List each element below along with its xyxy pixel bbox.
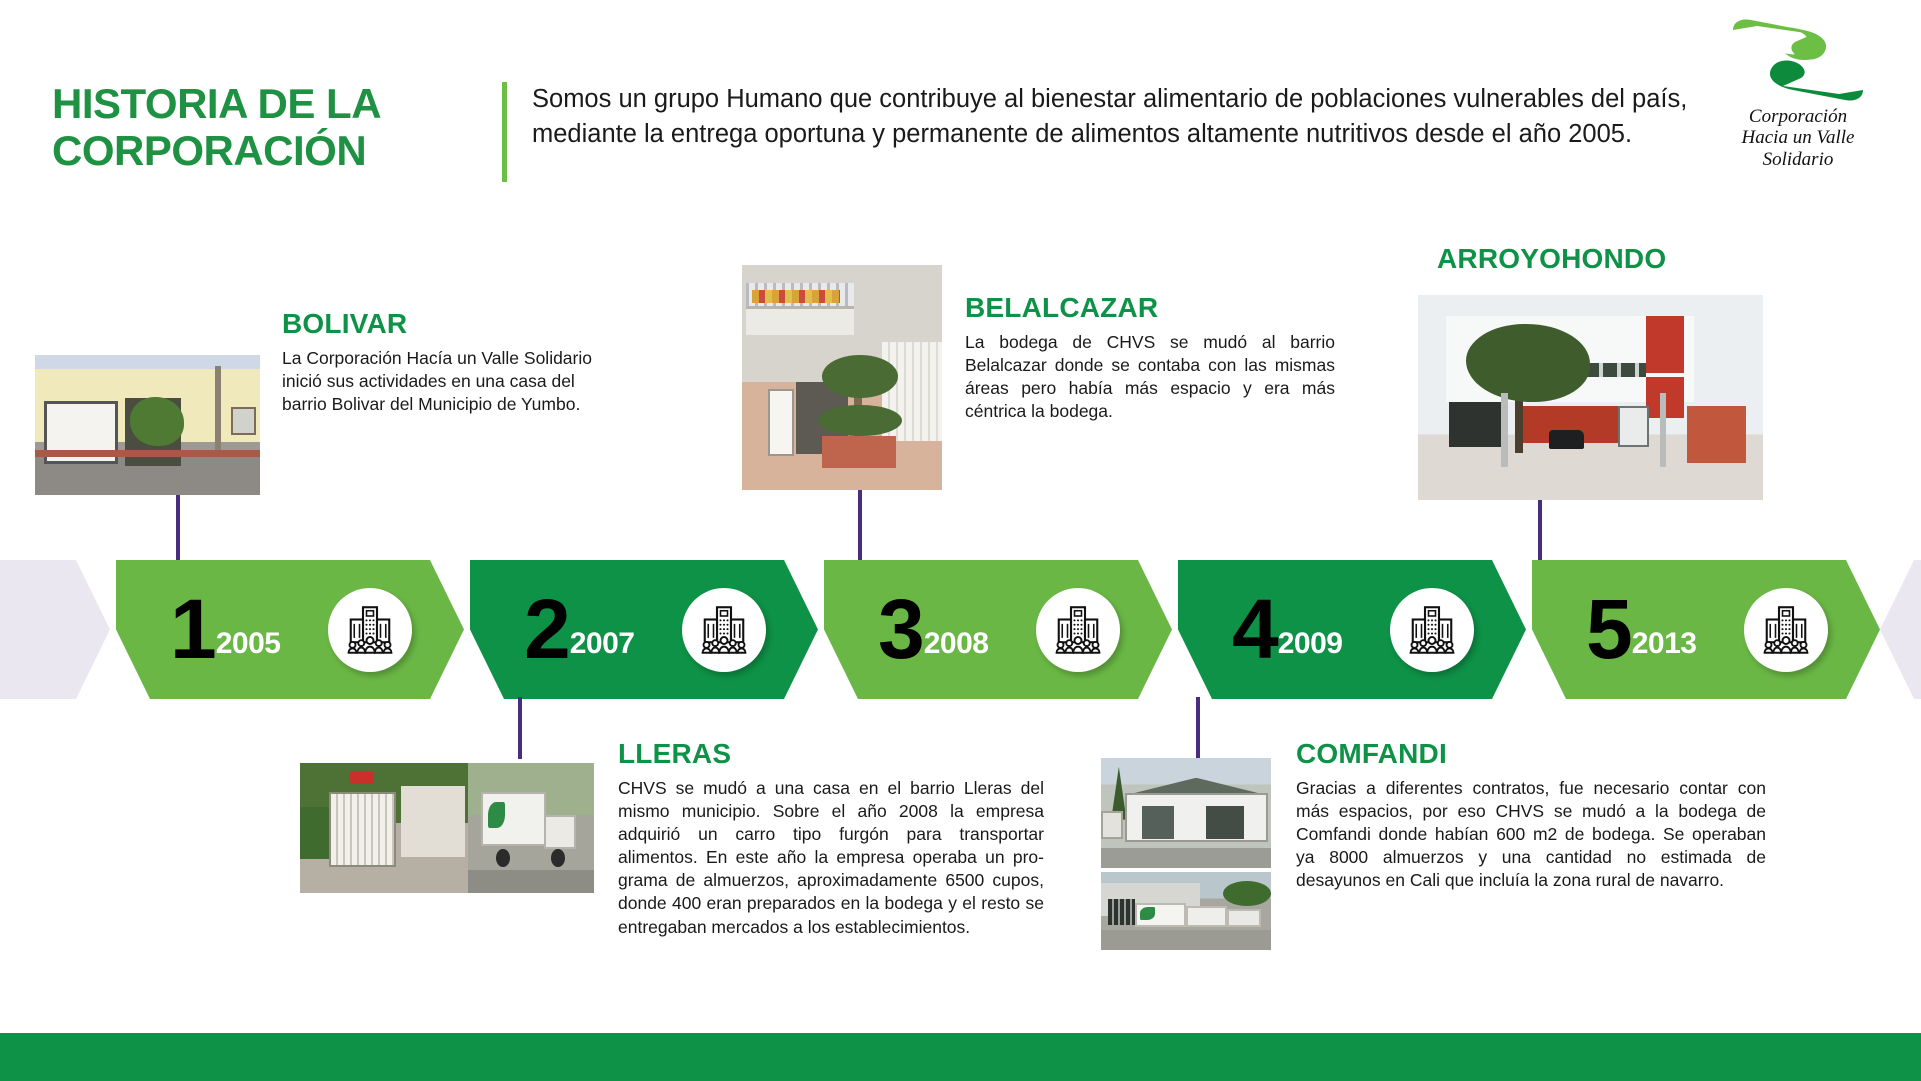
hands-s-logo-icon xyxy=(1727,14,1869,106)
milestone-card-bolivar: BOLIVAR La Corporación Hacía un Valle So… xyxy=(282,308,602,416)
timeline-bar: 1 2005 xyxy=(0,560,1921,699)
milestone-body-lleras: CHVS se mudó a una casa en el barrio Lle… xyxy=(618,777,1044,939)
connector-line-5 xyxy=(1538,500,1542,562)
timeline-year-1: 2005 xyxy=(216,627,281,661)
milestone-card-belalcazar: BELALCAZAR La bodega de CHVS se mudó al … xyxy=(965,292,1335,423)
title-divider xyxy=(502,82,507,182)
timeline-start-cap xyxy=(0,560,110,699)
milestone-card-lleras: LLERAS CHVS se mudó a una casa en el bar… xyxy=(618,738,1044,939)
milestone-title-comfandi: COMFANDI xyxy=(1296,738,1766,770)
page-title: HISTORIA DE LA CORPORACIÓN xyxy=(52,80,502,174)
milestone-title-arroyohondo: ARROYOHONDO xyxy=(1437,243,1817,275)
timeline-number-3: 3 xyxy=(878,595,922,664)
timeline-segment-2[interactable]: 2 2007 xyxy=(470,560,818,699)
timeline-number-2: 2 xyxy=(524,595,568,664)
lleras-house-photo xyxy=(300,763,468,893)
timeline-number-4: 4 xyxy=(1232,595,1276,664)
milestone-title-bolivar: BOLIVAR xyxy=(282,308,602,340)
logo-text: Corporación Hacia un Valle Solidario xyxy=(1713,106,1883,170)
comfandi-warehouse-photo xyxy=(1101,758,1271,868)
timeline-year-2: 2007 xyxy=(570,627,635,661)
timeline-segment-5[interactable]: 5 2013 xyxy=(1532,560,1880,699)
building-with-people-icon xyxy=(1744,588,1828,672)
connector-line-1 xyxy=(176,495,180,562)
connector-line-4 xyxy=(1196,697,1200,759)
mission-statement: Somos un grupo Humano que contribuye al … xyxy=(532,82,1692,152)
connector-line-3 xyxy=(858,490,862,562)
footer-bar xyxy=(0,1033,1921,1081)
logo-line-1: Corporación xyxy=(1713,106,1883,127)
milestone-body-bolivar: La Corporación Hacía un Valle Solidario … xyxy=(282,347,602,416)
milestone-card-arroyohondo: ARROYOHONDO xyxy=(1437,243,1817,282)
comfandi-trucks-photo xyxy=(1101,872,1271,950)
timeline-year-4: 2009 xyxy=(1278,627,1343,661)
timeline-number-5: 5 xyxy=(1586,595,1630,664)
building-with-people-icon xyxy=(682,588,766,672)
building-with-people-icon xyxy=(328,588,412,672)
bolivar-house-photo xyxy=(35,355,260,495)
timeline-segment-1[interactable]: 1 2005 xyxy=(116,560,464,699)
header: HISTORIA DE LA CORPORACIÓN Somos un grup… xyxy=(0,0,1921,200)
milestone-body-belalcazar: La bodega de CHVS se mudó al barrio Bela… xyxy=(965,331,1335,423)
milestone-title-belalcazar: BELALCAZAR xyxy=(965,292,1335,324)
logo-line-2: Hacia un Valle xyxy=(1713,127,1883,148)
timeline-year-5: 2013 xyxy=(1632,627,1697,661)
timeline-segment-3[interactable]: 3 2008 xyxy=(824,560,1172,699)
connector-line-2 xyxy=(518,697,522,759)
infographic-page: HISTORIA DE LA CORPORACIÓN Somos un grup… xyxy=(0,0,1921,1081)
arroyohondo-building-photo xyxy=(1418,295,1763,500)
milestone-title-lleras: LLERAS xyxy=(618,738,1044,770)
belalcazar-house-photo xyxy=(742,265,942,490)
lleras-truck-photo xyxy=(468,763,594,893)
logo: Corporación Hacia un Valle Solidario xyxy=(1713,14,1883,179)
timeline-year-3: 2008 xyxy=(924,627,989,661)
building-with-people-icon xyxy=(1036,588,1120,672)
timeline-end-cap xyxy=(1880,560,1921,699)
timeline-number-1: 1 xyxy=(170,595,214,664)
milestone-card-comfandi: COMFANDI Gracias a diferentes contratos,… xyxy=(1296,738,1766,892)
building-with-people-icon xyxy=(1390,588,1474,672)
timeline-segment-4[interactable]: 4 2009 xyxy=(1178,560,1526,699)
milestone-body-comfandi: Gracias a diferentes contratos, fue nece… xyxy=(1296,777,1766,892)
logo-line-3: Solidario xyxy=(1713,149,1883,170)
